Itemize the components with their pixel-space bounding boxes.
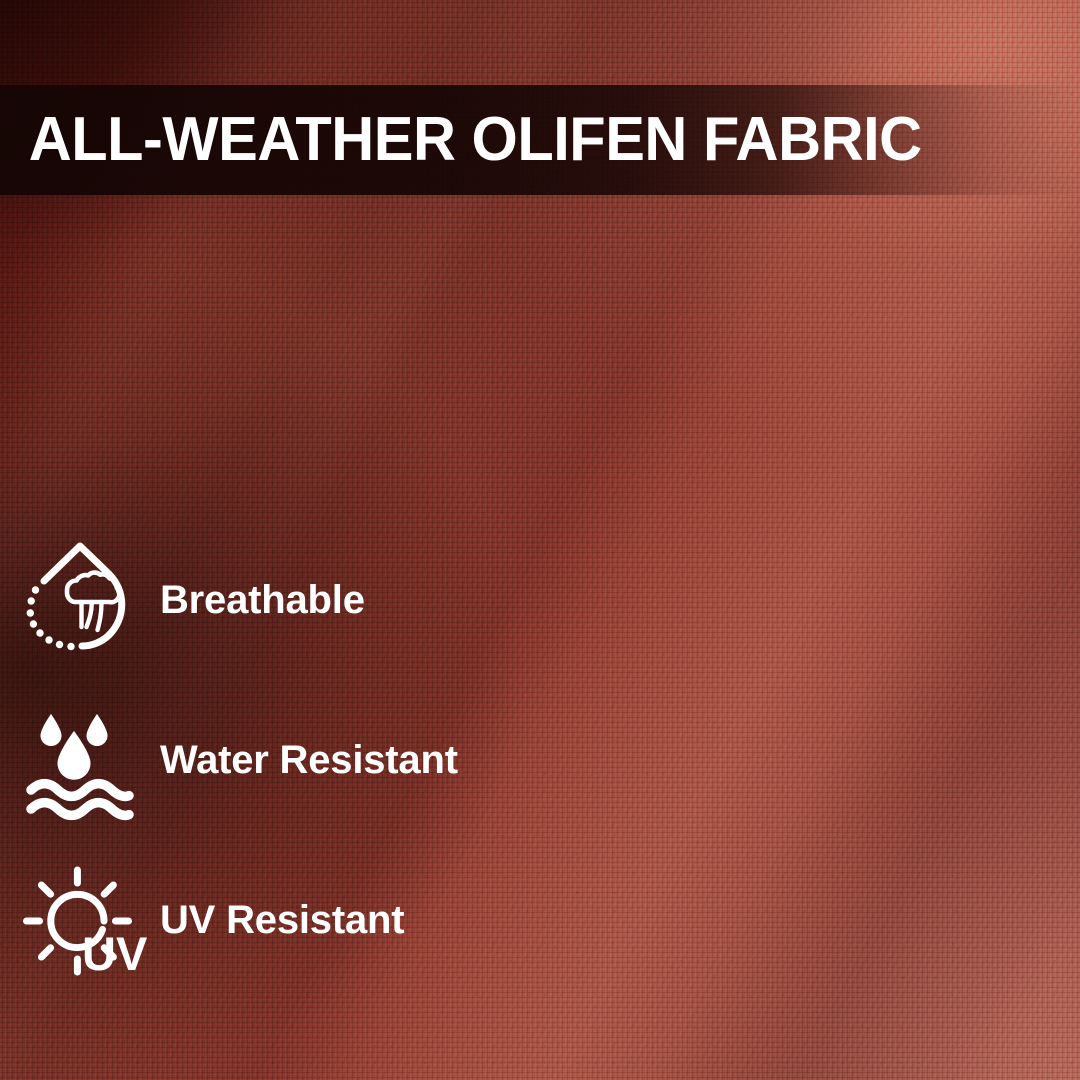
title-banner: ALL-WEATHER OLIFEN FABRIC bbox=[0, 85, 1080, 195]
feature-label-breathable: Breathable bbox=[160, 580, 365, 620]
feature-row-uv-resistant: UV UV Resistant bbox=[0, 840, 620, 1000]
water-droplets-waves-icon bbox=[0, 708, 160, 812]
feature-label-uv-resistant: UV Resistant bbox=[160, 900, 404, 940]
feature-label-water-resistant: Water Resistant bbox=[160, 740, 458, 780]
feature-row-water-resistant: Water Resistant bbox=[0, 680, 620, 840]
sun-uv-icon: UV bbox=[0, 866, 160, 974]
product-feature-graphic: ALL-WEATHER OLIFEN FABRIC bbox=[0, 0, 1080, 1080]
uv-icon-text: UV bbox=[82, 927, 148, 980]
feature-list: Breathable Water Resistant bbox=[0, 520, 620, 1000]
breathable-droplet-cotton-icon bbox=[0, 541, 160, 659]
page-title: ALL-WEATHER OLIFEN FABRIC bbox=[0, 109, 922, 171]
feature-row-breathable: Breathable bbox=[0, 520, 620, 680]
